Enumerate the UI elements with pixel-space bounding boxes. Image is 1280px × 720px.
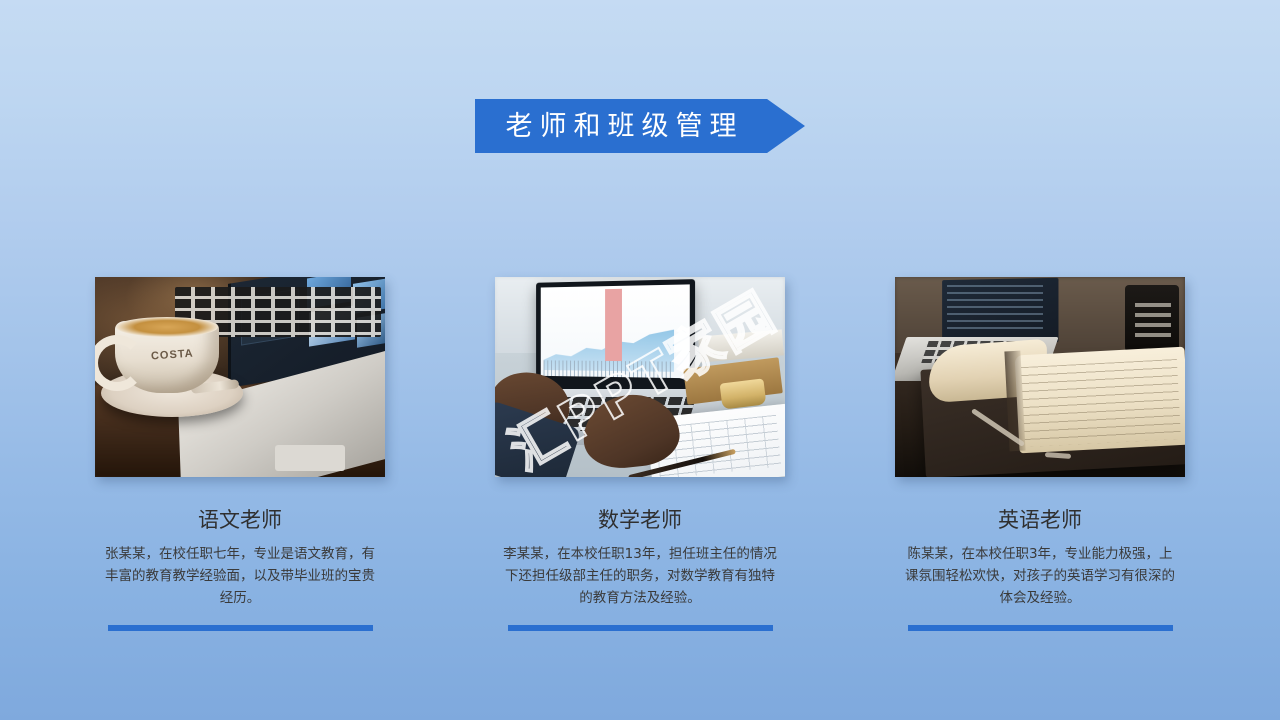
photo-notebook-desk	[895, 277, 1185, 477]
photo-hands-typing: 汇PPT家园	[495, 277, 785, 477]
card-underline-bar	[108, 625, 373, 631]
page-title: 老师和班级管理	[475, 113, 767, 140]
photo-artwork	[495, 277, 785, 477]
teacher-card[interactable]: 英语老师 陈某某，在本校任职3年，专业能力极强，上课氛围轻松欢快，对孩子的英语学…	[895, 277, 1185, 631]
slide-title-banner: 老师和班级管理	[475, 99, 805, 153]
photo-artwork: COSTA	[95, 277, 385, 477]
teacher-title: 英语老师	[895, 510, 1185, 531]
teacher-description: 李某某，在本校任职13年，担任班主任的情况下还担任级部主任的职务，对数学教育有独…	[495, 543, 785, 609]
photo-coffee-laptop: COSTA	[95, 277, 385, 477]
teacher-card[interactable]: 汇PPT家园 数学老师 李某某，在本校任职13年，担任班主任的情况下还担任级部主…	[495, 277, 785, 631]
teacher-description: 张某某，在校任职七年，专业是语文教育，有丰富的教育教学经验面，以及带毕业班的宝贵…	[95, 543, 385, 609]
card-underline-bar	[908, 625, 1173, 631]
teacher-card[interactable]: COSTA 语文老师 张某某，在校任职七年，专业是语文教育，有丰富的教育教学经验…	[95, 277, 385, 631]
teacher-description: 陈某某，在本校任职3年，专业能力极强，上课氛围轻松欢快，对孩子的英语学习有很深的…	[895, 543, 1185, 609]
photo-artwork	[895, 277, 1185, 477]
teacher-card-list: COSTA 语文老师 张某某，在校任职七年，专业是语文教育，有丰富的教育教学经验…	[0, 277, 1280, 631]
card-underline-bar	[508, 625, 773, 631]
teacher-title: 数学老师	[495, 510, 785, 531]
slide-canvas: 老师和班级管理	[0, 0, 1280, 720]
teacher-title: 语文老师	[95, 510, 385, 531]
